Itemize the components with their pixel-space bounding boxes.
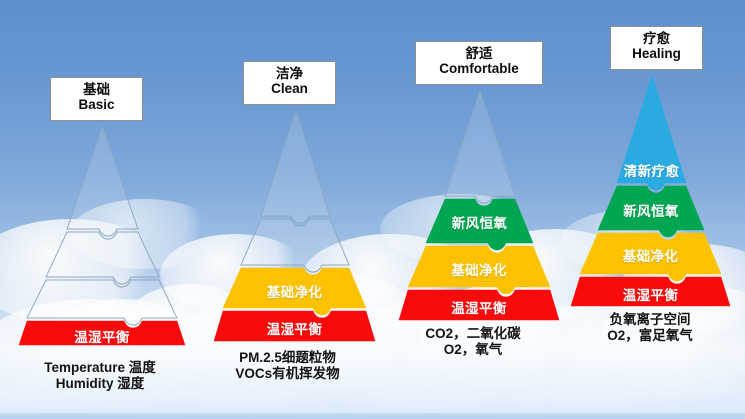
caption-line-2: O2，氧气: [375, 342, 571, 358]
pyramid-band-1: [67, 127, 138, 236]
pyramid-caption-healing: 负氧离子空间 O2，富足氧气: [555, 312, 745, 344]
caption-line-2: VOCs有机挥发物: [185, 366, 390, 382]
slide-canvas: 基础 Basic 温湿平衡 Temperature 温度 Humidity 湿度…: [0, 0, 745, 419]
pyramid-band-label-comfortable-4: 温湿平衡: [399, 297, 559, 317]
pyramid-band-2: [46, 232, 159, 284]
pyramid-caption-clean: PM.2.5细题粒物 VOCs有机挥发物: [185, 350, 390, 382]
caption-line-1: 负氧离子空间: [555, 312, 745, 328]
pyramid-comfortable: 舒适 Comfortable 新风恒氧 基础净化 温湿平衡 CO2，二氧化碳 O…: [375, 0, 580, 419]
pyramid-band-label-healing-2: 新风恒氧: [598, 200, 704, 220]
pyramid-band-label-basic-4: 温湿平衡: [19, 326, 185, 346]
pyramid-band-label-healing-1: 清新疗愈: [617, 160, 686, 180]
caption-line-2: O2，富足氧气: [555, 328, 745, 344]
pyramid-band-label-clean-3: 基础净化: [223, 281, 366, 301]
pyramid-basic: 基础 Basic 温湿平衡 Temperature 温度 Humidity 湿度: [0, 0, 200, 419]
pyramid-clean: 洁净 Clean 基础净化 温湿平衡 PM.2.5细题粒物 VOCs有机挥发物: [185, 0, 390, 419]
pyramid-shape-basic: [0, 0, 200, 419]
pyramid-band-label-healing-4: 温湿平衡: [571, 284, 730, 304]
pyramid-band-label-comfortable-2: 新风恒氧: [426, 212, 533, 232]
pyramid-band-label-comfortable-3: 基础净化: [408, 259, 550, 279]
caption-line-1: Temperature 温度: [0, 360, 200, 376]
pyramid-healing: 疗愈 Healing 清新疗愈 新风恒氧 基础净化 温湿平衡 负氧离子空间 O2…: [555, 0, 745, 419]
pyramid-caption-comfortable: CO2，二氧化碳 O2，氧气: [375, 326, 571, 358]
caption-line-1: PM.2.5细题粒物: [185, 350, 390, 366]
pyramid-band-label-healing-3: 基础净化: [580, 245, 721, 265]
pyramid-band-label-clean-4: 温湿平衡: [214, 318, 375, 338]
pyramid-band-1: [445, 92, 515, 203]
pyramid-band-3: [27, 280, 177, 325]
pyramid-caption-basic: Temperature 温度 Humidity 湿度: [0, 360, 200, 392]
pyramid-band-2: [241, 219, 349, 272]
pyramid-band-1: [261, 111, 330, 223]
caption-line-2: Humidity 湿度: [0, 376, 200, 392]
caption-line-1: CO2，二氧化碳: [375, 326, 571, 342]
